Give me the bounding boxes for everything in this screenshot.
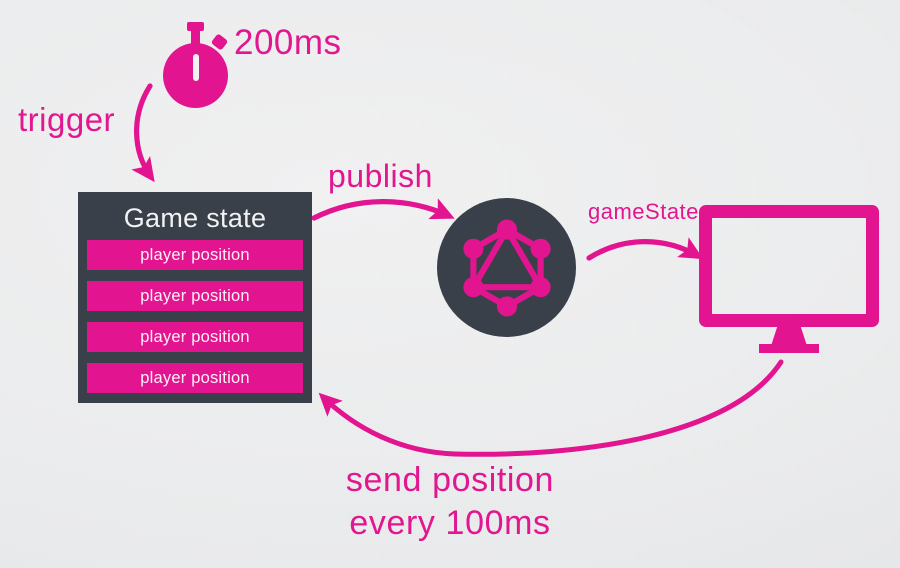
game-state-panel: Game state player position player positi… xyxy=(78,192,312,403)
player-position-label: player position xyxy=(140,246,249,265)
arrow-publish xyxy=(314,202,449,218)
send-position-line2: every 100ms xyxy=(0,506,900,542)
diagram-canvas: 200ms trigger publish gameState send pos… xyxy=(0,0,900,568)
player-position-row[interactable]: player position xyxy=(87,363,303,393)
timer-interval-label: 200ms xyxy=(234,25,342,62)
desktop-monitor-icon xyxy=(699,205,879,353)
arrow-label-trigger: trigger xyxy=(18,103,115,138)
graphql-server-node xyxy=(437,198,576,337)
stopwatch-hand-icon xyxy=(193,54,199,81)
graphql-logo-icon xyxy=(459,219,555,317)
arrow-send-position xyxy=(323,362,781,454)
player-position-label: player position xyxy=(140,287,249,306)
monitor-stand xyxy=(771,326,807,346)
arrow-label-gamestate: gameState xyxy=(588,200,699,223)
monitor-base xyxy=(759,344,819,353)
arrow-label-send-position: send position every 100ms xyxy=(0,463,900,541)
player-position-label: player position xyxy=(140,369,249,388)
player-position-row[interactable]: player position xyxy=(87,281,303,311)
player-position-label: player position xyxy=(140,328,249,347)
arrow-gamestate xyxy=(589,242,698,258)
stopwatch-icon xyxy=(163,22,235,108)
send-position-line1: send position xyxy=(346,461,554,499)
monitor-screen xyxy=(699,205,879,327)
player-position-row[interactable]: player position xyxy=(87,240,303,270)
player-position-row[interactable]: player position xyxy=(87,322,303,352)
game-state-title: Game state xyxy=(87,198,303,240)
arrow-trigger xyxy=(137,86,151,177)
arrow-label-publish: publish xyxy=(328,160,433,194)
monitor-camera-icon xyxy=(786,210,791,215)
